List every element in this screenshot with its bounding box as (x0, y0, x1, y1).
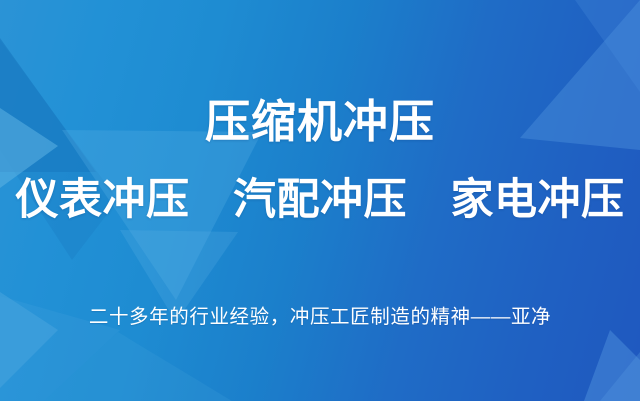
banner-tagline: 二十多年的行业经验，冲压工匠制造的精神——亚净 (0, 308, 640, 328)
headline-primary: 压缩机冲压 (0, 99, 640, 144)
promo-banner: 压缩机冲压 仪表冲压 汽配冲压 家电冲压 二十多年的行业经验，冲压工匠制造的精神… (0, 0, 640, 401)
banner-text-layer: 压缩机冲压 仪表冲压 汽配冲压 家电冲压 二十多年的行业经验，冲压工匠制造的精神… (0, 0, 640, 401)
headline-secondary: 仪表冲压 汽配冲压 家电冲压 (0, 179, 640, 222)
